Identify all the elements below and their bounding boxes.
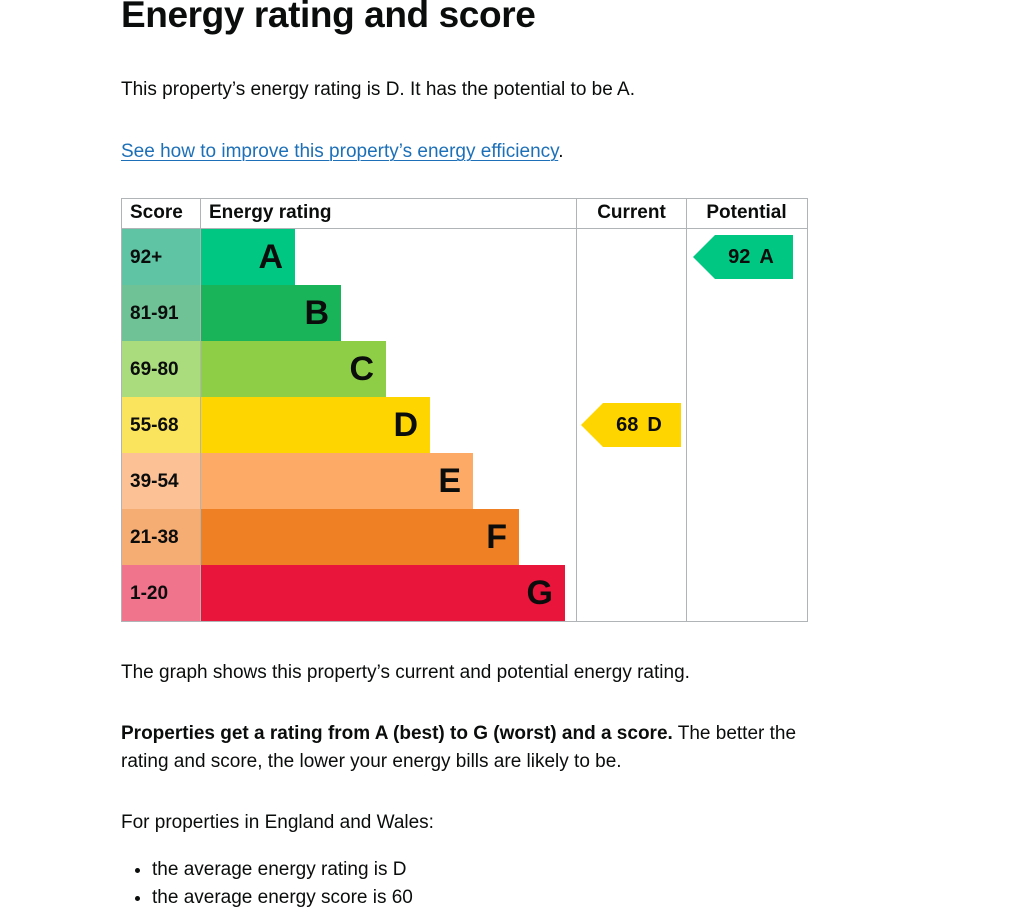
bar-cell-d: D — [201, 397, 577, 453]
score-range-a: 92+ — [122, 229, 201, 285]
band-bar-a: A — [201, 229, 295, 285]
current-cell-e — [577, 453, 687, 509]
bar-cell-a: A — [201, 229, 577, 285]
score-range-d: 55-68 — [122, 397, 201, 453]
improve-link-trailing-period: . — [558, 141, 563, 162]
bar-cell-g: G — [201, 565, 577, 621]
band-row-d: 55-68 D 68 D — [122, 397, 807, 453]
intro-paragraph: This property’s energy rating is D. It h… — [121, 76, 635, 104]
region-lead: For properties in England and Wales: — [121, 809, 434, 837]
band-letter-b: B — [304, 296, 329, 330]
current-cell-d: 68 D — [577, 397, 687, 453]
band-row-b: 81-91 B — [122, 285, 807, 341]
current-marker: 68 D — [581, 403, 681, 447]
band-bar-d: D — [201, 397, 430, 453]
current-band: D — [647, 415, 661, 435]
current-score: 68 — [616, 415, 638, 435]
band-letter-a: A — [258, 240, 283, 274]
potential-cell-d — [687, 397, 806, 453]
band-bar-b: B — [201, 285, 341, 341]
graph-body: 92+ A 92 A 81-91 — [122, 229, 807, 621]
current-cell-a — [577, 229, 687, 285]
band-row-g: 1-20 G — [122, 565, 807, 621]
list-item: the average energy score is 60 — [152, 884, 413, 912]
band-letter-e: E — [438, 464, 461, 498]
potential-cell-a: 92 A — [687, 229, 806, 285]
bar-cell-e: E — [201, 453, 577, 509]
improve-efficiency-link-row: See how to improve this property’s energ… — [121, 138, 564, 166]
band-bar-g: G — [201, 565, 565, 621]
score-range-c: 69-80 — [122, 341, 201, 397]
potential-cell-e — [687, 453, 806, 509]
band-letter-c: C — [349, 352, 374, 386]
rating-explainer-bold: Properties get a rating from A (best) to… — [121, 723, 673, 744]
page-title: Energy rating and score — [121, 0, 535, 35]
band-bar-c: C — [201, 341, 386, 397]
band-row-a: 92+ A 92 A — [122, 229, 807, 285]
band-letter-d: D — [393, 408, 418, 442]
band-bar-e: E — [201, 453, 473, 509]
band-letter-g: G — [527, 576, 553, 610]
band-bar-f: F — [201, 509, 519, 565]
score-range-b: 81-91 — [122, 285, 201, 341]
list-item: the average energy rating is D — [152, 856, 413, 884]
band-row-e: 39-54 E — [122, 453, 807, 509]
score-range-e: 39-54 — [122, 453, 201, 509]
graph-header-row: Score Energy rating Current Potential — [122, 199, 807, 229]
rating-explainer: Properties get a rating from A (best) to… — [121, 720, 821, 776]
header-potential: Potential — [687, 199, 806, 228]
bar-cell-b: B — [201, 285, 577, 341]
current-cell-b — [577, 285, 687, 341]
bar-cell-f: F — [201, 509, 577, 565]
current-cell-g — [577, 565, 687, 621]
score-range-g: 1-20 — [122, 565, 201, 621]
potential-marker: 92 A — [693, 235, 793, 279]
header-current: Current — [577, 199, 687, 228]
potential-cell-c — [687, 341, 806, 397]
band-letter-f: F — [486, 520, 507, 554]
potential-band: A — [759, 247, 773, 267]
potential-score: 92 — [728, 247, 750, 267]
graph-caption: The graph shows this property’s current … — [121, 659, 690, 687]
potential-cell-f — [687, 509, 806, 565]
band-row-c: 69-80 C — [122, 341, 807, 397]
bar-cell-c: C — [201, 341, 577, 397]
score-range-f: 21-38 — [122, 509, 201, 565]
potential-cell-g — [687, 565, 806, 621]
improve-efficiency-link[interactable]: See how to improve this property’s energ… — [121, 141, 558, 162]
energy-rating-graph: Score Energy rating Current Potential 92… — [121, 198, 808, 622]
region-facts-list: the average energy rating is D the avera… — [121, 856, 413, 912]
current-cell-f — [577, 509, 687, 565]
header-score: Score — [122, 199, 201, 228]
potential-cell-b — [687, 285, 806, 341]
band-row-f: 21-38 F — [122, 509, 807, 565]
current-cell-c — [577, 341, 687, 397]
header-energy-rating: Energy rating — [201, 199, 577, 228]
